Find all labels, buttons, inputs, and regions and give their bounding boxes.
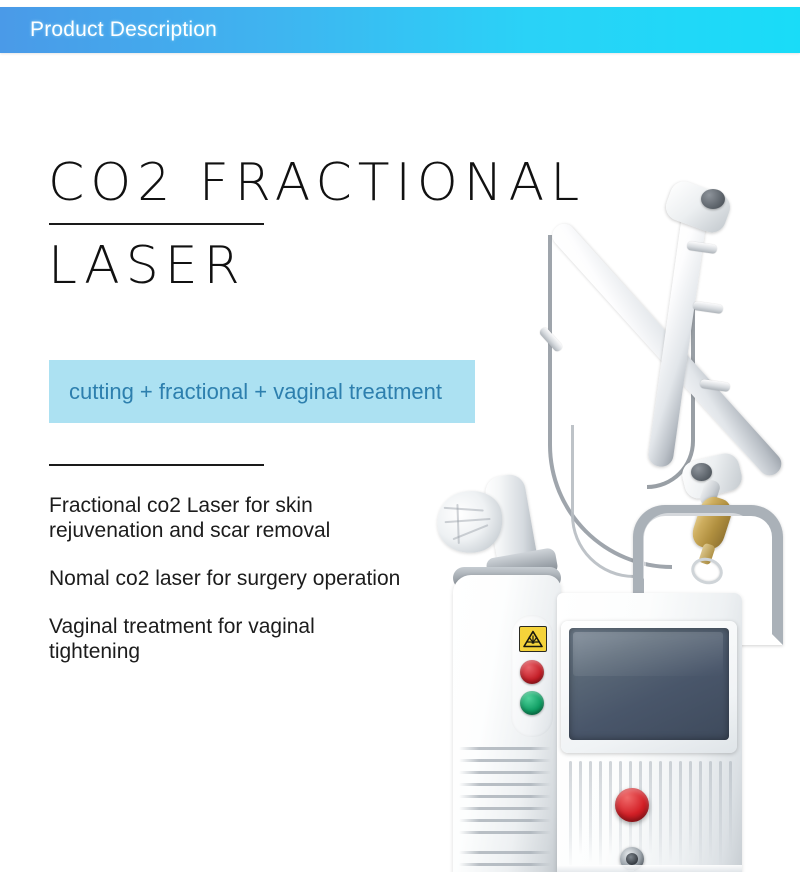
product-description-page: Product Description CO2 FRACTIONAL LASER… (0, 0, 800, 872)
screen-glare (573, 632, 723, 676)
features-divider (49, 464, 264, 466)
headline-divider (49, 223, 264, 225)
arm-apex-housing (662, 178, 734, 237)
handpiece-cable (571, 425, 634, 578)
red-indicator-button[interactable] (520, 660, 544, 684)
carry-handle-highlight (643, 513, 757, 579)
product-photo-laser-machine (415, 175, 800, 872)
laser-warning-label-icon (519, 626, 547, 652)
feature-item: Nomal co2 laser for surgery operation (49, 566, 409, 591)
arm-apex-joint-icon (701, 189, 725, 209)
tagline-band: cutting + fractional + vaginal treatment (49, 360, 475, 423)
green-indicator-button[interactable] (520, 691, 544, 715)
feature-list: Fractional co2 Laser for skin rejuvenati… (49, 493, 409, 664)
emergency-stop-button[interactable] (615, 788, 649, 822)
arm-collar (693, 301, 724, 314)
section-header-title: Product Description (30, 18, 217, 42)
cabinet-base-strip (557, 865, 742, 872)
section-header-bar: Product Description (0, 7, 800, 53)
tagline-text: cutting + fractional + vaginal treatment (69, 379, 442, 405)
feature-item: Fractional co2 Laser for skin rejuvenati… (49, 493, 409, 543)
key-switch-barrel (626, 853, 638, 865)
ventilation-panel (565, 761, 733, 869)
arm-end-joint-icon (691, 463, 712, 481)
feature-item: Vaginal treatment for vaginal tightening (49, 614, 409, 664)
